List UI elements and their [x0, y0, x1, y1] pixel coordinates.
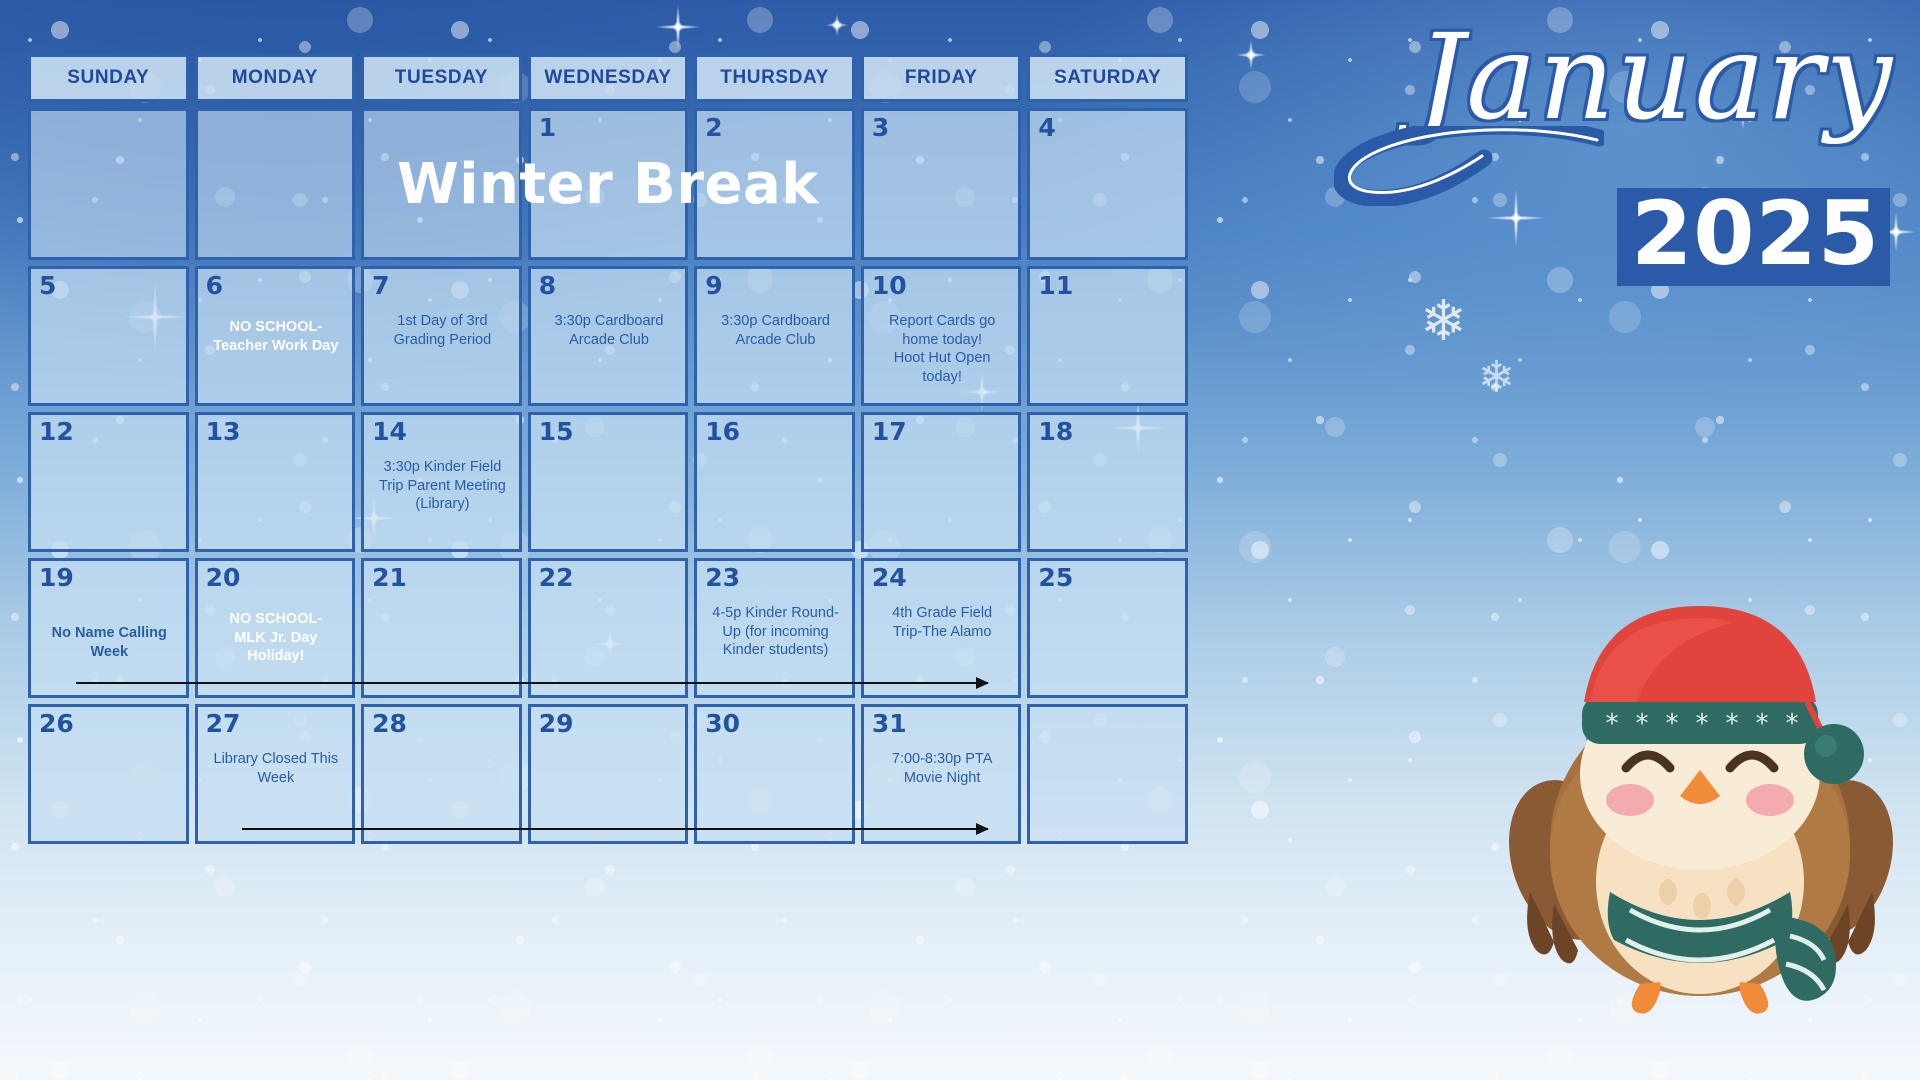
day-cell-empty[interactable]: [361, 108, 522, 260]
event-text: Hoot Hut Open today!: [876, 349, 1009, 386]
event-text: Library Closed This Week: [210, 750, 343, 787]
day-events: 7:00-8:30p PTA Movie Night: [872, 750, 1013, 787]
weekday-header-monday: MONDAY: [195, 54, 356, 102]
sparkle-star: [1486, 188, 1546, 248]
day-number: 26: [39, 711, 180, 736]
day-cell-18[interactable]: 18: [1027, 412, 1188, 552]
day-number: 20: [206, 565, 347, 590]
day-number: 2: [705, 115, 846, 140]
weekday-header-wednesday: WEDNESDAY: [528, 54, 689, 102]
calendar-weeks: 1234Winter Break56NO SCHOOL-Teacher Work…: [28, 108, 1188, 844]
event-text: 4-5p Kinder Round-Up (for incoming Kinde…: [709, 604, 842, 660]
month-title-block: January 2025: [1384, 18, 1904, 288]
month-name: January: [1417, 18, 1894, 136]
day-cell-2[interactable]: 2: [694, 108, 855, 260]
event-text: 3:30p Kinder Field Trip Parent Meeting (…: [376, 458, 509, 514]
svg-text:*: *: [1666, 709, 1679, 739]
library-closed-week-span: [242, 828, 989, 830]
day-number: 13: [206, 419, 347, 444]
snowflake-icon: ❄: [1420, 288, 1467, 354]
day-cell-15[interactable]: 15: [528, 412, 689, 552]
day-cell-31[interactable]: 317:00-8:30p PTA Movie Night: [861, 704, 1022, 844]
svg-text:*: *: [1606, 709, 1619, 739]
svg-text:*: *: [1636, 709, 1649, 739]
day-events: Report Cards go home today!Hoot Hut Open…: [872, 312, 1013, 386]
day-number: 24: [872, 565, 1013, 590]
day-cell-11[interactable]: 11: [1027, 266, 1188, 406]
day-number: 5: [39, 273, 180, 298]
event-text: MLK Jr. Day Holiday!: [210, 629, 343, 666]
day-cell-17[interactable]: 17: [861, 412, 1022, 552]
svg-text:*: *: [1786, 709, 1799, 739]
weekday-label: THURSDAY: [720, 67, 829, 89]
weekday-header-saturday: SATURDAY: [1027, 54, 1188, 102]
weekday-label: WEDNESDAY: [544, 67, 671, 89]
day-number: 11: [1038, 273, 1179, 298]
day-number: 1: [539, 115, 680, 140]
day-cell-empty[interactable]: [195, 108, 356, 260]
event-text: No Name Calling Week: [43, 624, 176, 661]
day-events: 4th Grade Field Trip-The Alamo: [872, 604, 1013, 641]
day-cell-19[interactable]: 19No Name Calling Week: [28, 558, 189, 698]
sparkle-star: [655, 4, 701, 50]
svg-text:*: *: [1726, 709, 1739, 739]
day-number: 9: [705, 273, 846, 298]
day-number: 17: [872, 419, 1013, 444]
day-cell-16[interactable]: 16: [694, 412, 855, 552]
weekday-header-thursday: THURSDAY: [694, 54, 855, 102]
event-text: Report Cards go home today!: [876, 312, 1009, 349]
day-cell-10[interactable]: 10Report Cards go home today!Hoot Hut Op…: [861, 266, 1022, 406]
weekday-label: TUESDAY: [395, 67, 488, 89]
day-number: 29: [539, 711, 680, 736]
weekday-label: SATURDAY: [1054, 67, 1161, 89]
day-number: 14: [372, 419, 513, 444]
day-cell-1[interactable]: 1: [528, 108, 689, 260]
day-cell-22[interactable]: 22: [528, 558, 689, 698]
day-number: 7: [372, 273, 513, 298]
sparkle-star: [1236, 40, 1266, 70]
weekday-header-friday: FRIDAY: [861, 54, 1022, 102]
day-events: 3:30p Cardboard Arcade Club: [705, 312, 846, 349]
day-number: 27: [206, 711, 347, 736]
day-cell-6[interactable]: 6NO SCHOOL-Teacher Work Day: [195, 266, 356, 406]
day-number: 12: [39, 419, 180, 444]
weekday-header-sunday: SUNDAY: [28, 54, 189, 102]
calendar-week-row: 1234Winter Break: [28, 108, 1188, 260]
day-cell-7[interactable]: 71st Day of 3rd Grading Period: [361, 266, 522, 406]
event-text: Teacher Work Day: [210, 337, 343, 356]
svg-text:*: *: [1696, 709, 1709, 739]
day-events: 3:30p Cardboard Arcade Club: [539, 312, 680, 349]
day-cell-3[interactable]: 3: [861, 108, 1022, 260]
snowflake-icon: ❄: [1478, 352, 1515, 403]
weekday-header-row: SUNDAY MONDAY TUESDAY WEDNESDAY THURSDAY…: [28, 54, 1188, 102]
day-cell-5[interactable]: 5: [28, 266, 189, 406]
day-number: 4: [1038, 115, 1179, 140]
day-events: 4-5p Kinder Round-Up (for incoming Kinde…: [705, 604, 846, 660]
day-events: 1st Day of 3rd Grading Period: [372, 312, 513, 349]
day-cell-24[interactable]: 244th Grade Field Trip-The Alamo: [861, 558, 1022, 698]
day-number: 30: [705, 711, 846, 736]
day-number: 16: [705, 419, 846, 444]
no-name-calling-week-span: [76, 682, 988, 684]
day-number: 21: [372, 565, 513, 590]
day-number: 8: [539, 273, 680, 298]
day-number: 28: [372, 711, 513, 736]
day-number: 6: [206, 273, 347, 298]
winter-owl-mascot: ** ** ** *: [1490, 592, 1910, 1022]
day-number: 18: [1038, 419, 1179, 444]
day-number: 23: [705, 565, 846, 590]
day-events: No Name Calling Week: [39, 624, 180, 661]
day-events: 3:30p Kinder Field Trip Parent Meeting (…: [372, 458, 513, 514]
day-cell-12[interactable]: 12: [28, 412, 189, 552]
day-cell-13[interactable]: 13: [195, 412, 356, 552]
event-text: 3:30p Cardboard Arcade Club: [543, 312, 676, 349]
day-cell-21[interactable]: 21: [361, 558, 522, 698]
calendar-grid: SUNDAY MONDAY TUESDAY WEDNESDAY THURSDAY…: [28, 54, 1188, 850]
day-events: Library Closed This Week: [206, 750, 347, 787]
event-text: NO SCHOOL-: [210, 318, 343, 337]
day-events: NO SCHOOL-Teacher Work Day: [206, 318, 347, 355]
event-text: 1st Day of 3rd Grading Period: [376, 312, 509, 349]
sparkle-star: [1726, 96, 1760, 130]
month-year: 2025: [1617, 188, 1890, 286]
day-cell-empty[interactable]: [28, 108, 189, 260]
day-number: 25: [1038, 565, 1179, 590]
day-cell-9[interactable]: 93:30p Cardboard Arcade Club: [694, 266, 855, 406]
day-cell-4[interactable]: 4: [1027, 108, 1188, 260]
weekday-label: FRIDAY: [905, 67, 978, 89]
day-number: 15: [539, 419, 680, 444]
calendar-page: ❄ ❄ SUNDAY MONDAY TUESDAY WEDNESDAY THUR…: [0, 0, 1920, 1080]
weekday-label: MONDAY: [232, 67, 318, 89]
event-text: 3:30p Cardboard Arcade Club: [709, 312, 842, 349]
day-cell-25[interactable]: 25: [1027, 558, 1188, 698]
day-cell-8[interactable]: 83:30p Cardboard Arcade Club: [528, 266, 689, 406]
day-cell-20[interactable]: 20NO SCHOOL-MLK Jr. Day Holiday!: [195, 558, 356, 698]
day-cell-30[interactable]: 30: [694, 704, 855, 844]
day-cell-23[interactable]: 234-5p Kinder Round-Up (for incoming Kin…: [694, 558, 855, 698]
script-swash-decoration: [1334, 126, 1604, 206]
day-events: NO SCHOOL-MLK Jr. Day Holiday!: [206, 610, 347, 666]
svg-text:*: *: [1756, 709, 1769, 739]
event-text: 7:00-8:30p PTA Movie Night: [876, 750, 1009, 787]
day-cell-26[interactable]: 26: [28, 704, 189, 844]
event-text: 4th Grade Field Trip-The Alamo: [876, 604, 1009, 641]
calendar-week-row: 19No Name Calling Week20NO SCHOOL-MLK Jr…: [28, 558, 1188, 698]
day-cell-14[interactable]: 143:30p Kinder Field Trip Parent Meeting…: [361, 412, 522, 552]
day-cell-28[interactable]: 28: [361, 704, 522, 844]
day-number: 3: [872, 115, 1013, 140]
day-cell-29[interactable]: 29: [528, 704, 689, 844]
calendar-week-row: 2627Library Closed This Week282930317:00…: [28, 704, 1188, 844]
day-number: 10: [872, 273, 1013, 298]
weekday-header-tuesday: TUESDAY: [361, 54, 522, 102]
day-number: 19: [39, 565, 180, 590]
sparkle-star: [826, 14, 848, 36]
day-number: 22: [539, 565, 680, 590]
day-number: 31: [872, 711, 1013, 736]
day-cell-empty[interactable]: [1027, 704, 1188, 844]
event-text: NO SCHOOL-: [210, 610, 343, 629]
calendar-week-row: 1213143:30p Kinder Field Trip Parent Mee…: [28, 412, 1188, 552]
sparkle-star: [1876, 212, 1916, 252]
calendar-week-row: 56NO SCHOOL-Teacher Work Day71st Day of …: [28, 266, 1188, 406]
day-cell-27[interactable]: 27Library Closed This Week: [195, 704, 356, 844]
weekday-label: SUNDAY: [67, 67, 149, 89]
